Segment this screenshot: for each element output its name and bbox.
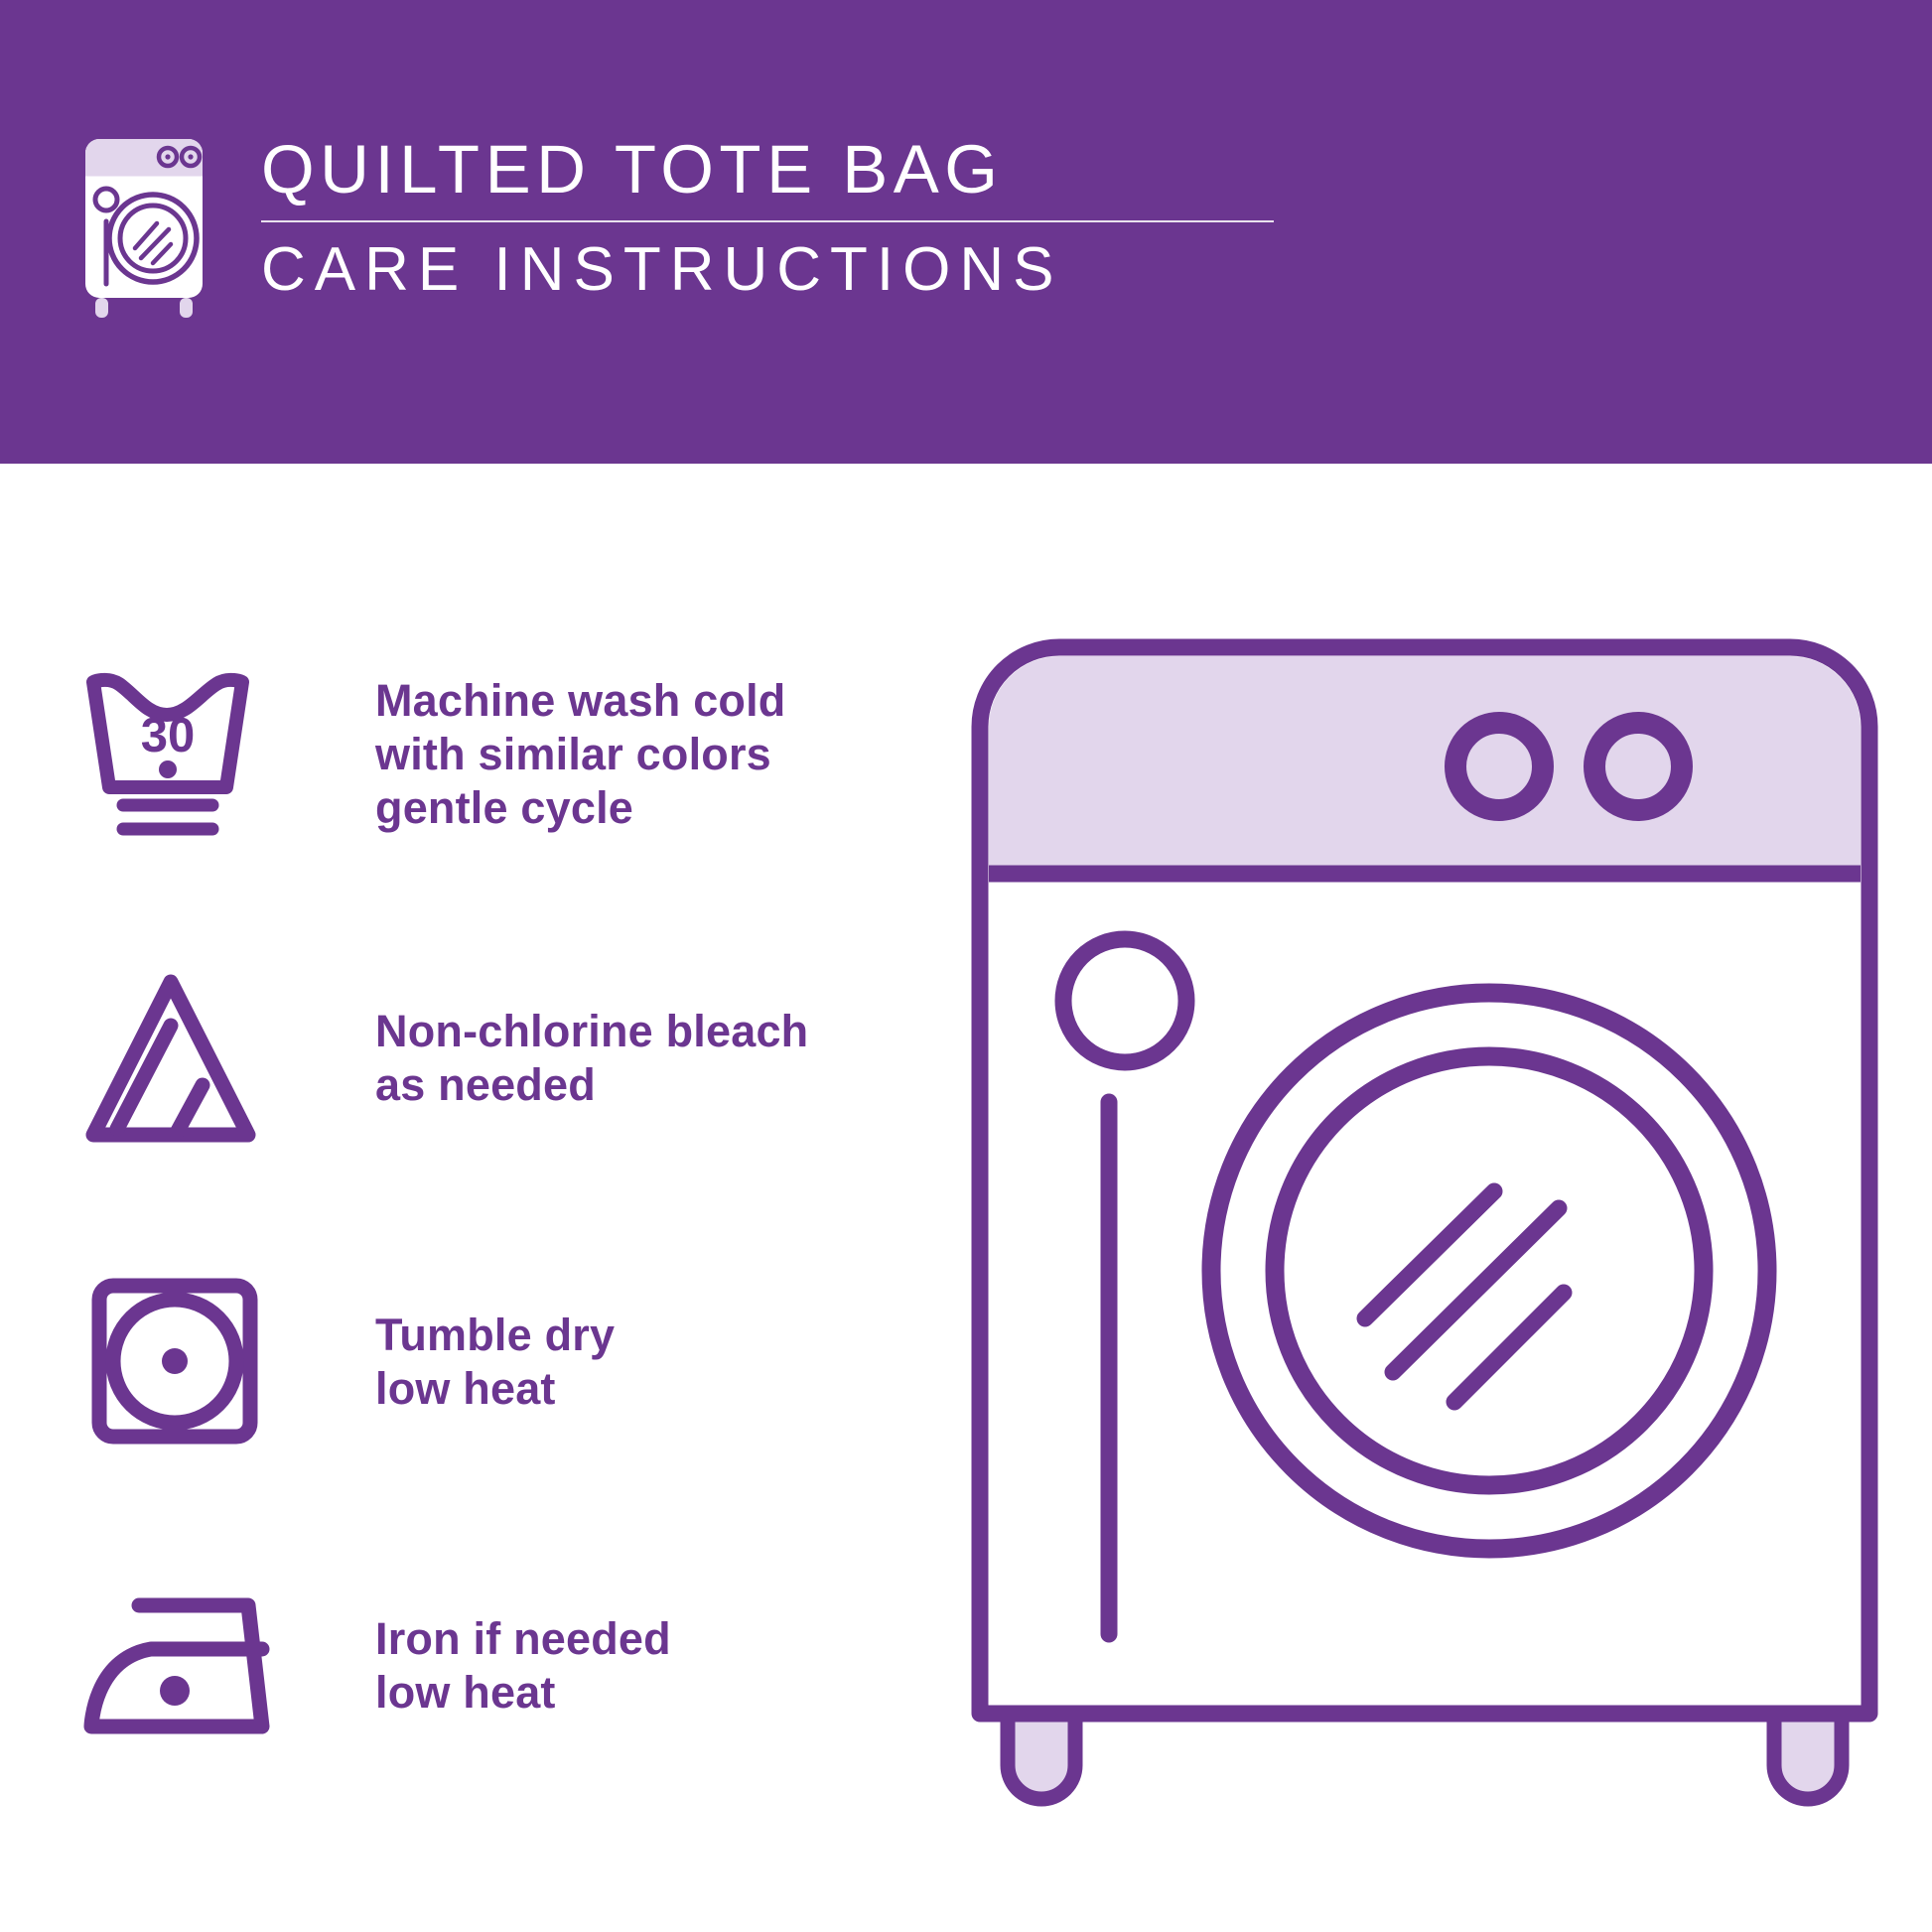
tumble-dry-low-icon (77, 1268, 291, 1456)
care-line: Tumble dry (375, 1309, 901, 1362)
care-text-tumble-dry: Tumble dry low heat (375, 1309, 901, 1416)
front-load-washing-machine-illustration (968, 635, 1881, 1837)
care-text-bleach: Non-chlorine bleach as needed (375, 1005, 901, 1112)
non-chlorine-bleach-triangle-icon (77, 964, 291, 1153)
care-line: Non-chlorine bleach (375, 1005, 901, 1058)
control-panel (989, 656, 1861, 874)
care-row-bleach: Non-chlorine bleach as needed (77, 959, 901, 1158)
header-content: QUILTED TOTE BAG CARE INSTRUCTIONS (69, 127, 1320, 341)
washing-machine-icon (69, 127, 223, 321)
care-instructions-infographic: QUILTED TOTE BAG CARE INSTRUCTIONS 30 (0, 0, 1932, 1932)
care-instruction-list: 30 Machine wash cold with similar colors… (77, 655, 901, 1765)
iron-low-heat-icon (77, 1572, 291, 1760)
care-row-tumble-dry: Tumble dry low heat (77, 1263, 901, 1461)
header-band: QUILTED TOTE BAG CARE INSTRUCTIONS (0, 0, 1932, 464)
control-knob-left (1455, 723, 1543, 810)
care-line: Iron if needed (375, 1612, 901, 1666)
care-row-iron: Iron if needed low heat (77, 1567, 901, 1765)
care-text-iron: Iron if needed low heat (375, 1612, 901, 1720)
title-divider (261, 220, 1274, 222)
care-line: gentle cycle (375, 781, 901, 835)
page-title: QUILTED TOTE BAG (261, 131, 1320, 208)
care-line: Machine wash cold (375, 674, 901, 728)
care-row-machine-wash: 30 Machine wash cold with similar colors… (77, 655, 901, 854)
wash-temperature-value: 30 (141, 709, 196, 762)
care-text-machine-wash: Machine wash cold with similar colors ge… (375, 674, 901, 835)
care-line: low heat (375, 1666, 901, 1720)
control-knob-right (1594, 723, 1682, 810)
care-line: with similar colors (375, 728, 901, 781)
care-line: as needed (375, 1058, 901, 1112)
header-title-block: QUILTED TOTE BAG CARE INSTRUCTIONS (261, 127, 1320, 306)
wash-tub-30-gentle-icon: 30 (77, 660, 291, 849)
page-subtitle: CARE INSTRUCTIONS (261, 234, 1320, 306)
care-line: low heat (375, 1362, 901, 1416)
